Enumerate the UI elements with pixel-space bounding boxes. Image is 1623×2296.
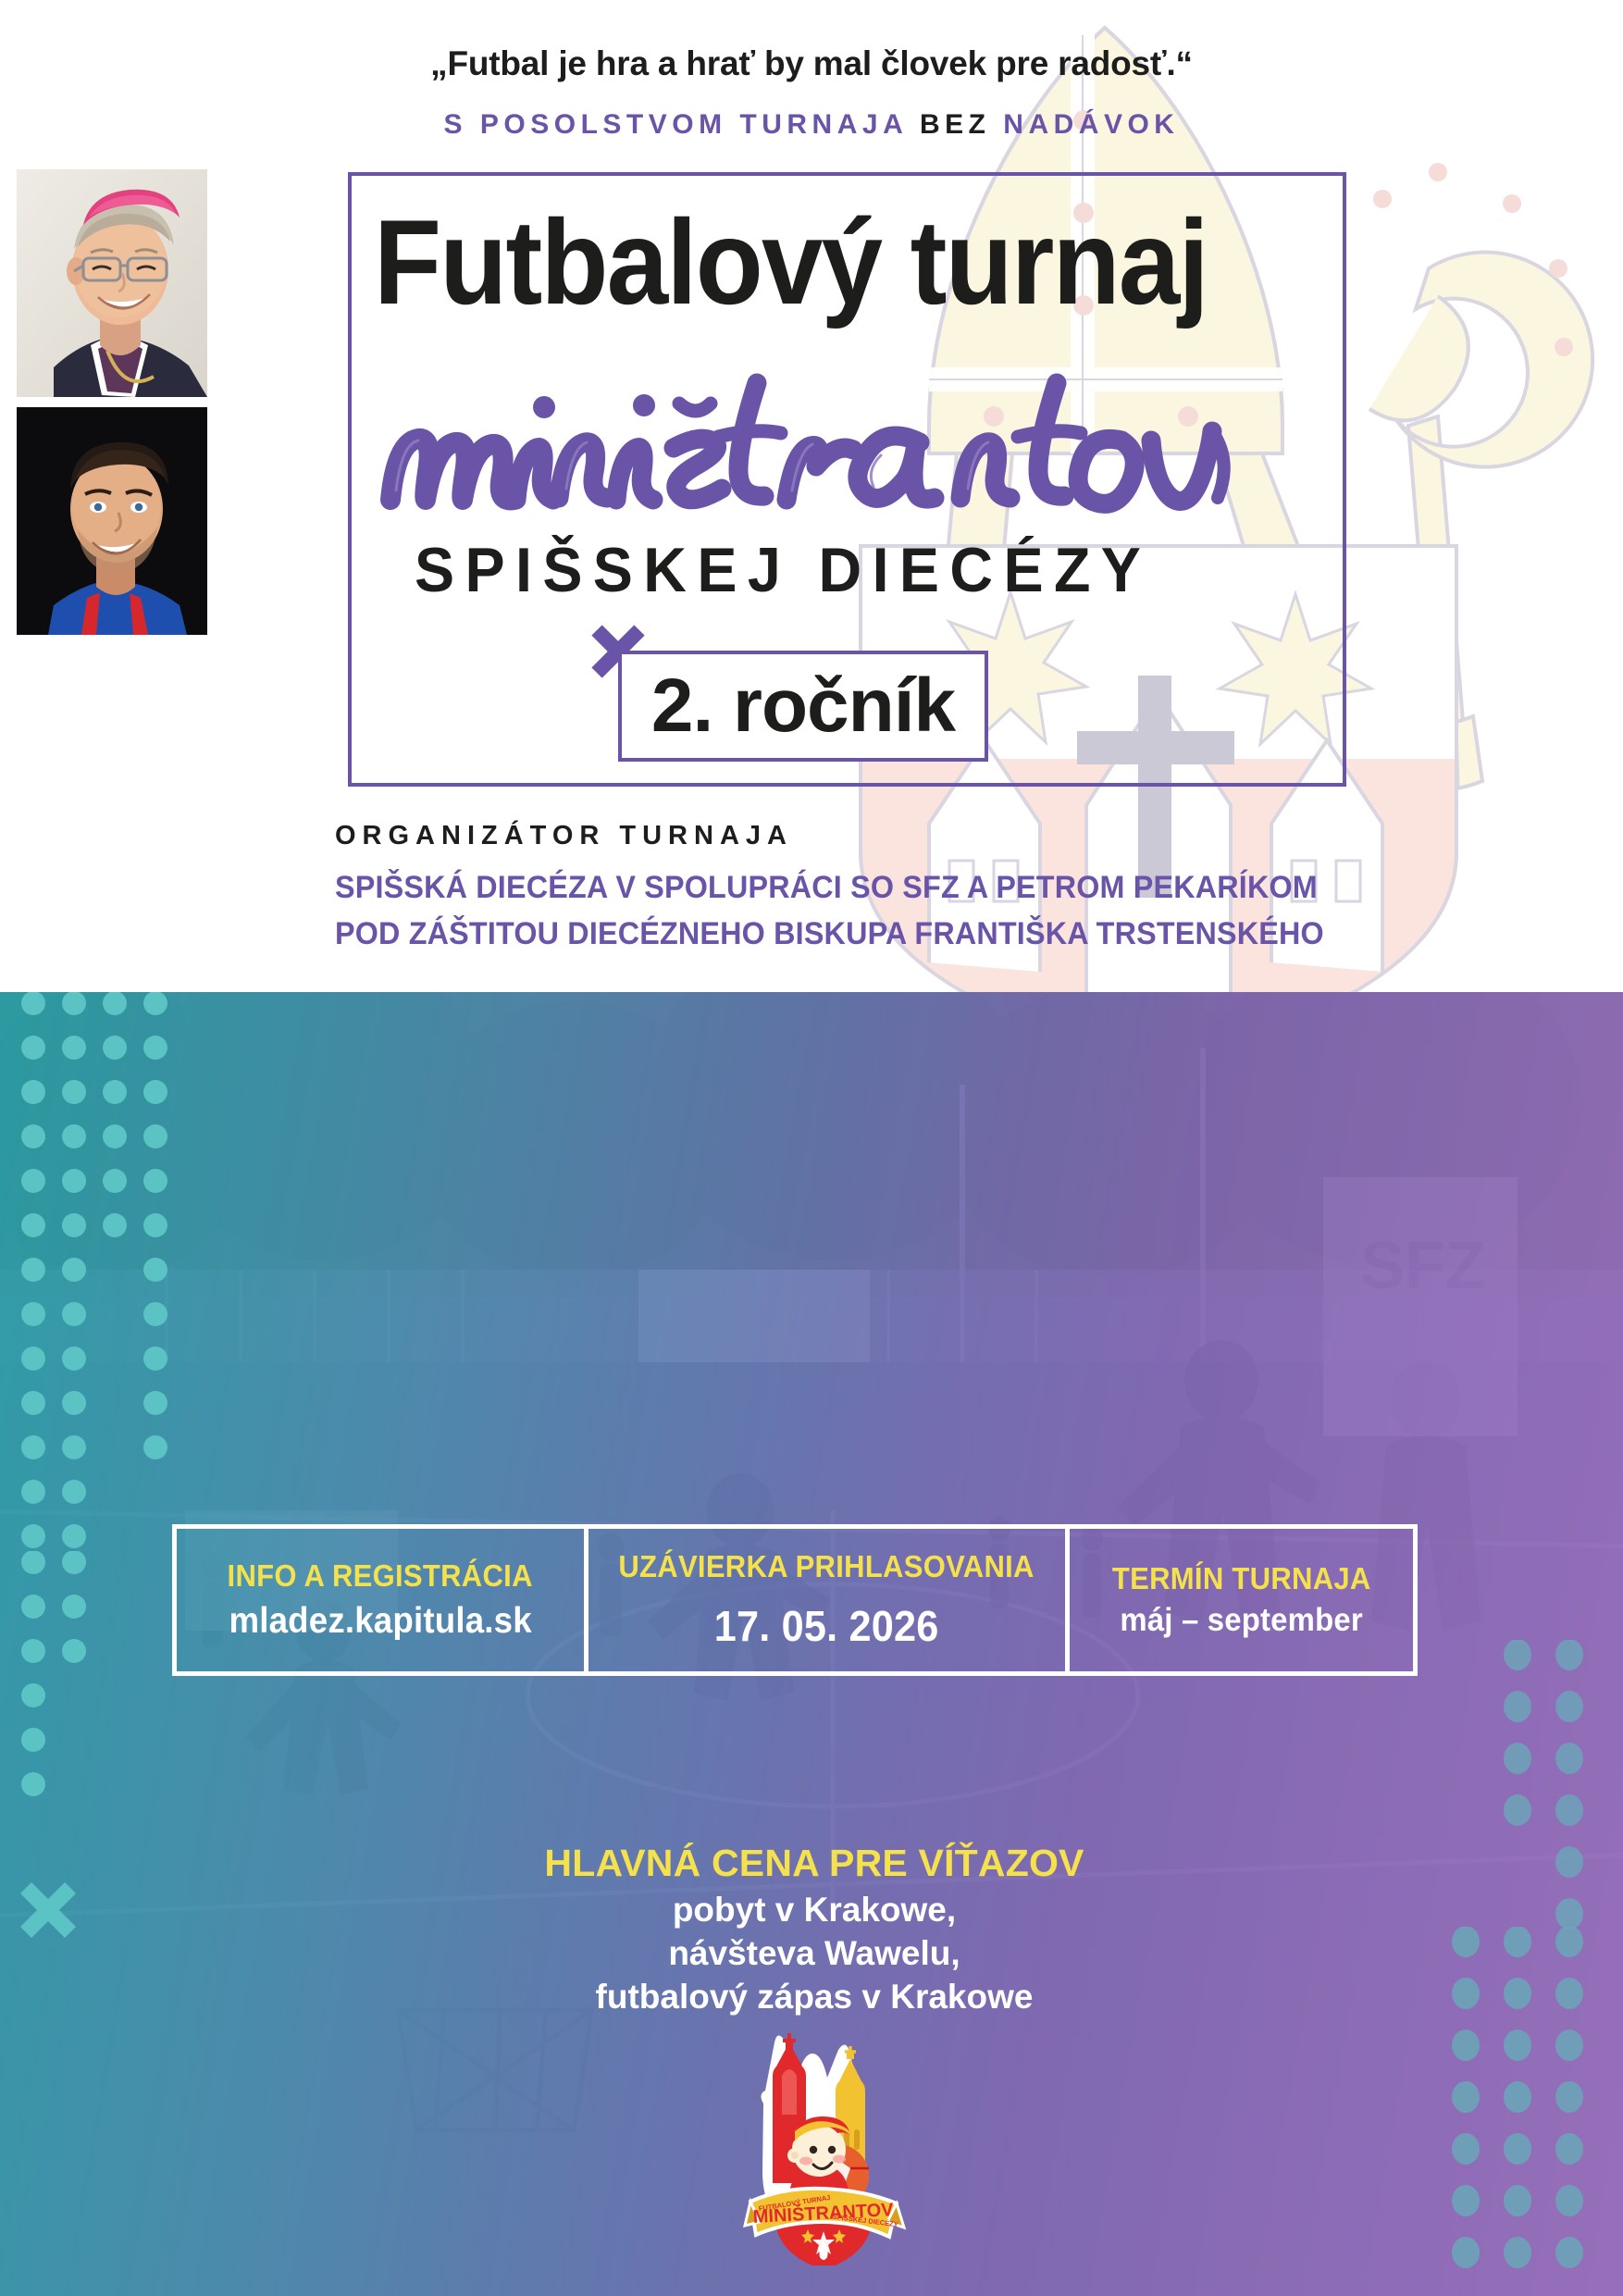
dot-grid-left: [13, 992, 180, 1558]
dot-grid-left-lower: [13, 1551, 180, 1856]
poster-root: „Futbal je hra a hrať by mal človek pre …: [0, 0, 1623, 2296]
info-box-deadline: UZÁVIERKA PRIHLASOVANIA 17. 05. 2026: [584, 1529, 1065, 1671]
info-box-term-label: TERMÍN TURNAJA: [1112, 1561, 1371, 1596]
organizer-label: ORGANIZÁTOR TURNAJA: [335, 821, 793, 851]
header-section: „Futbal je hra a hrať by mal človek pre …: [0, 0, 1623, 992]
info-boxes: INFO A REGISTRÁCIA mladez.kapitula.sk UZ…: [172, 1524, 1418, 1676]
tournament-motto: S POSOLSTVOM TURNAJA BEZ NADÁVOK: [0, 109, 1623, 141]
motto-accent: BEZ: [920, 109, 991, 140]
prize-line-2: návšteva Wawelu,: [481, 1934, 1147, 1973]
dot-grid-right-upper: [1490, 1640, 1623, 1936]
organizer-line-2: POD ZÁŠTITOU DIECÉZNEHO BISKUPA FRANTIŠK…: [335, 916, 1390, 952]
info-box-registration-value[interactable]: mladez.kapitula.sk: [229, 1601, 531, 1642]
prize-line-3: futbalový zápas v Krakowe: [481, 1978, 1147, 2017]
x-marker-left-icon: [19, 1880, 78, 1940]
motto-suffix: NADÁVOK: [990, 109, 1179, 140]
info-box-deadline-value: 17. 05. 2026: [714, 1601, 939, 1651]
prize-heading: HLAVNÁ CENA PRE VÍŤAZOV: [481, 1842, 1147, 1885]
title-script-ministrantov: [368, 352, 1349, 537]
info-box-deadline-label: UZÁVIERKA PRIHLASOVANIA: [619, 1549, 1035, 1584]
info-box-registration-label: INFO A REGISTRÁCIA: [228, 1558, 533, 1594]
title-line-1: Futbalový turnaj: [374, 202, 1259, 322]
dot-grid-right: [1436, 1927, 1621, 2296]
motto-prefix: S POSOLSTVOM TURNAJA: [444, 109, 920, 140]
info-box-term-value: máj – september: [1120, 1602, 1362, 1639]
info-box-registration[interactable]: INFO A REGISTRÁCIA mladez.kapitula.sk: [177, 1529, 584, 1671]
bishop-photo: [17, 169, 207, 397]
tournament-logo: MINIŠTRANTOV FUTBALOVÝ TURNAJ SPIŠSKEJ D…: [737, 2020, 910, 2265]
footballer-photo: [17, 407, 207, 635]
prize-line-1: pobyt v Krakowe,: [481, 1891, 1147, 1930]
title-line-3: SPIŠSKEJ DIECÉZY: [415, 534, 1294, 606]
info-box-term: TERMÍN TURNAJA máj – september: [1065, 1529, 1413, 1671]
organizer-line-1: SPIŠSKÁ DIECÉZA V SPOLUPRÁCI SO SFZ A PE…: [335, 870, 1390, 906]
edition-badge: 2. ročník: [618, 651, 988, 762]
edition-label: 2. ročník: [651, 668, 955, 744]
tournament-quote: „Futbal je hra a hrať by mal človek pre …: [0, 44, 1623, 83]
